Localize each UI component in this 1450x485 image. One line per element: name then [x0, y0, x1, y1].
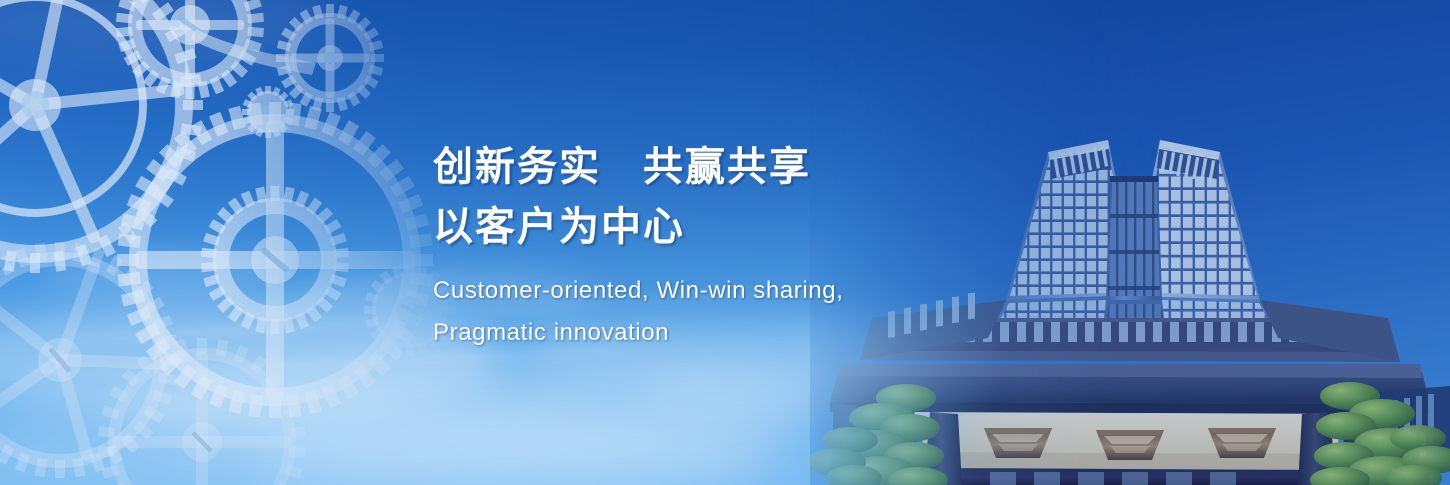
headline-line-2: 以客户为中心: [433, 198, 953, 256]
subheadline-line-1: Customer-oriented, Win-win sharing,: [433, 270, 953, 312]
subheadline-line-2: Pragmatic innovation: [433, 312, 953, 354]
banner-copy: 创新务实 共赢共享 以客户为中心 Customer-oriented, Win-…: [433, 138, 953, 354]
gear-illustration: [0, 0, 480, 485]
headline-line-1: 创新务实 共赢共享: [433, 138, 953, 196]
hero-banner: 创新务实 共赢共享 以客户为中心 Customer-oriented, Win-…: [0, 0, 1450, 485]
